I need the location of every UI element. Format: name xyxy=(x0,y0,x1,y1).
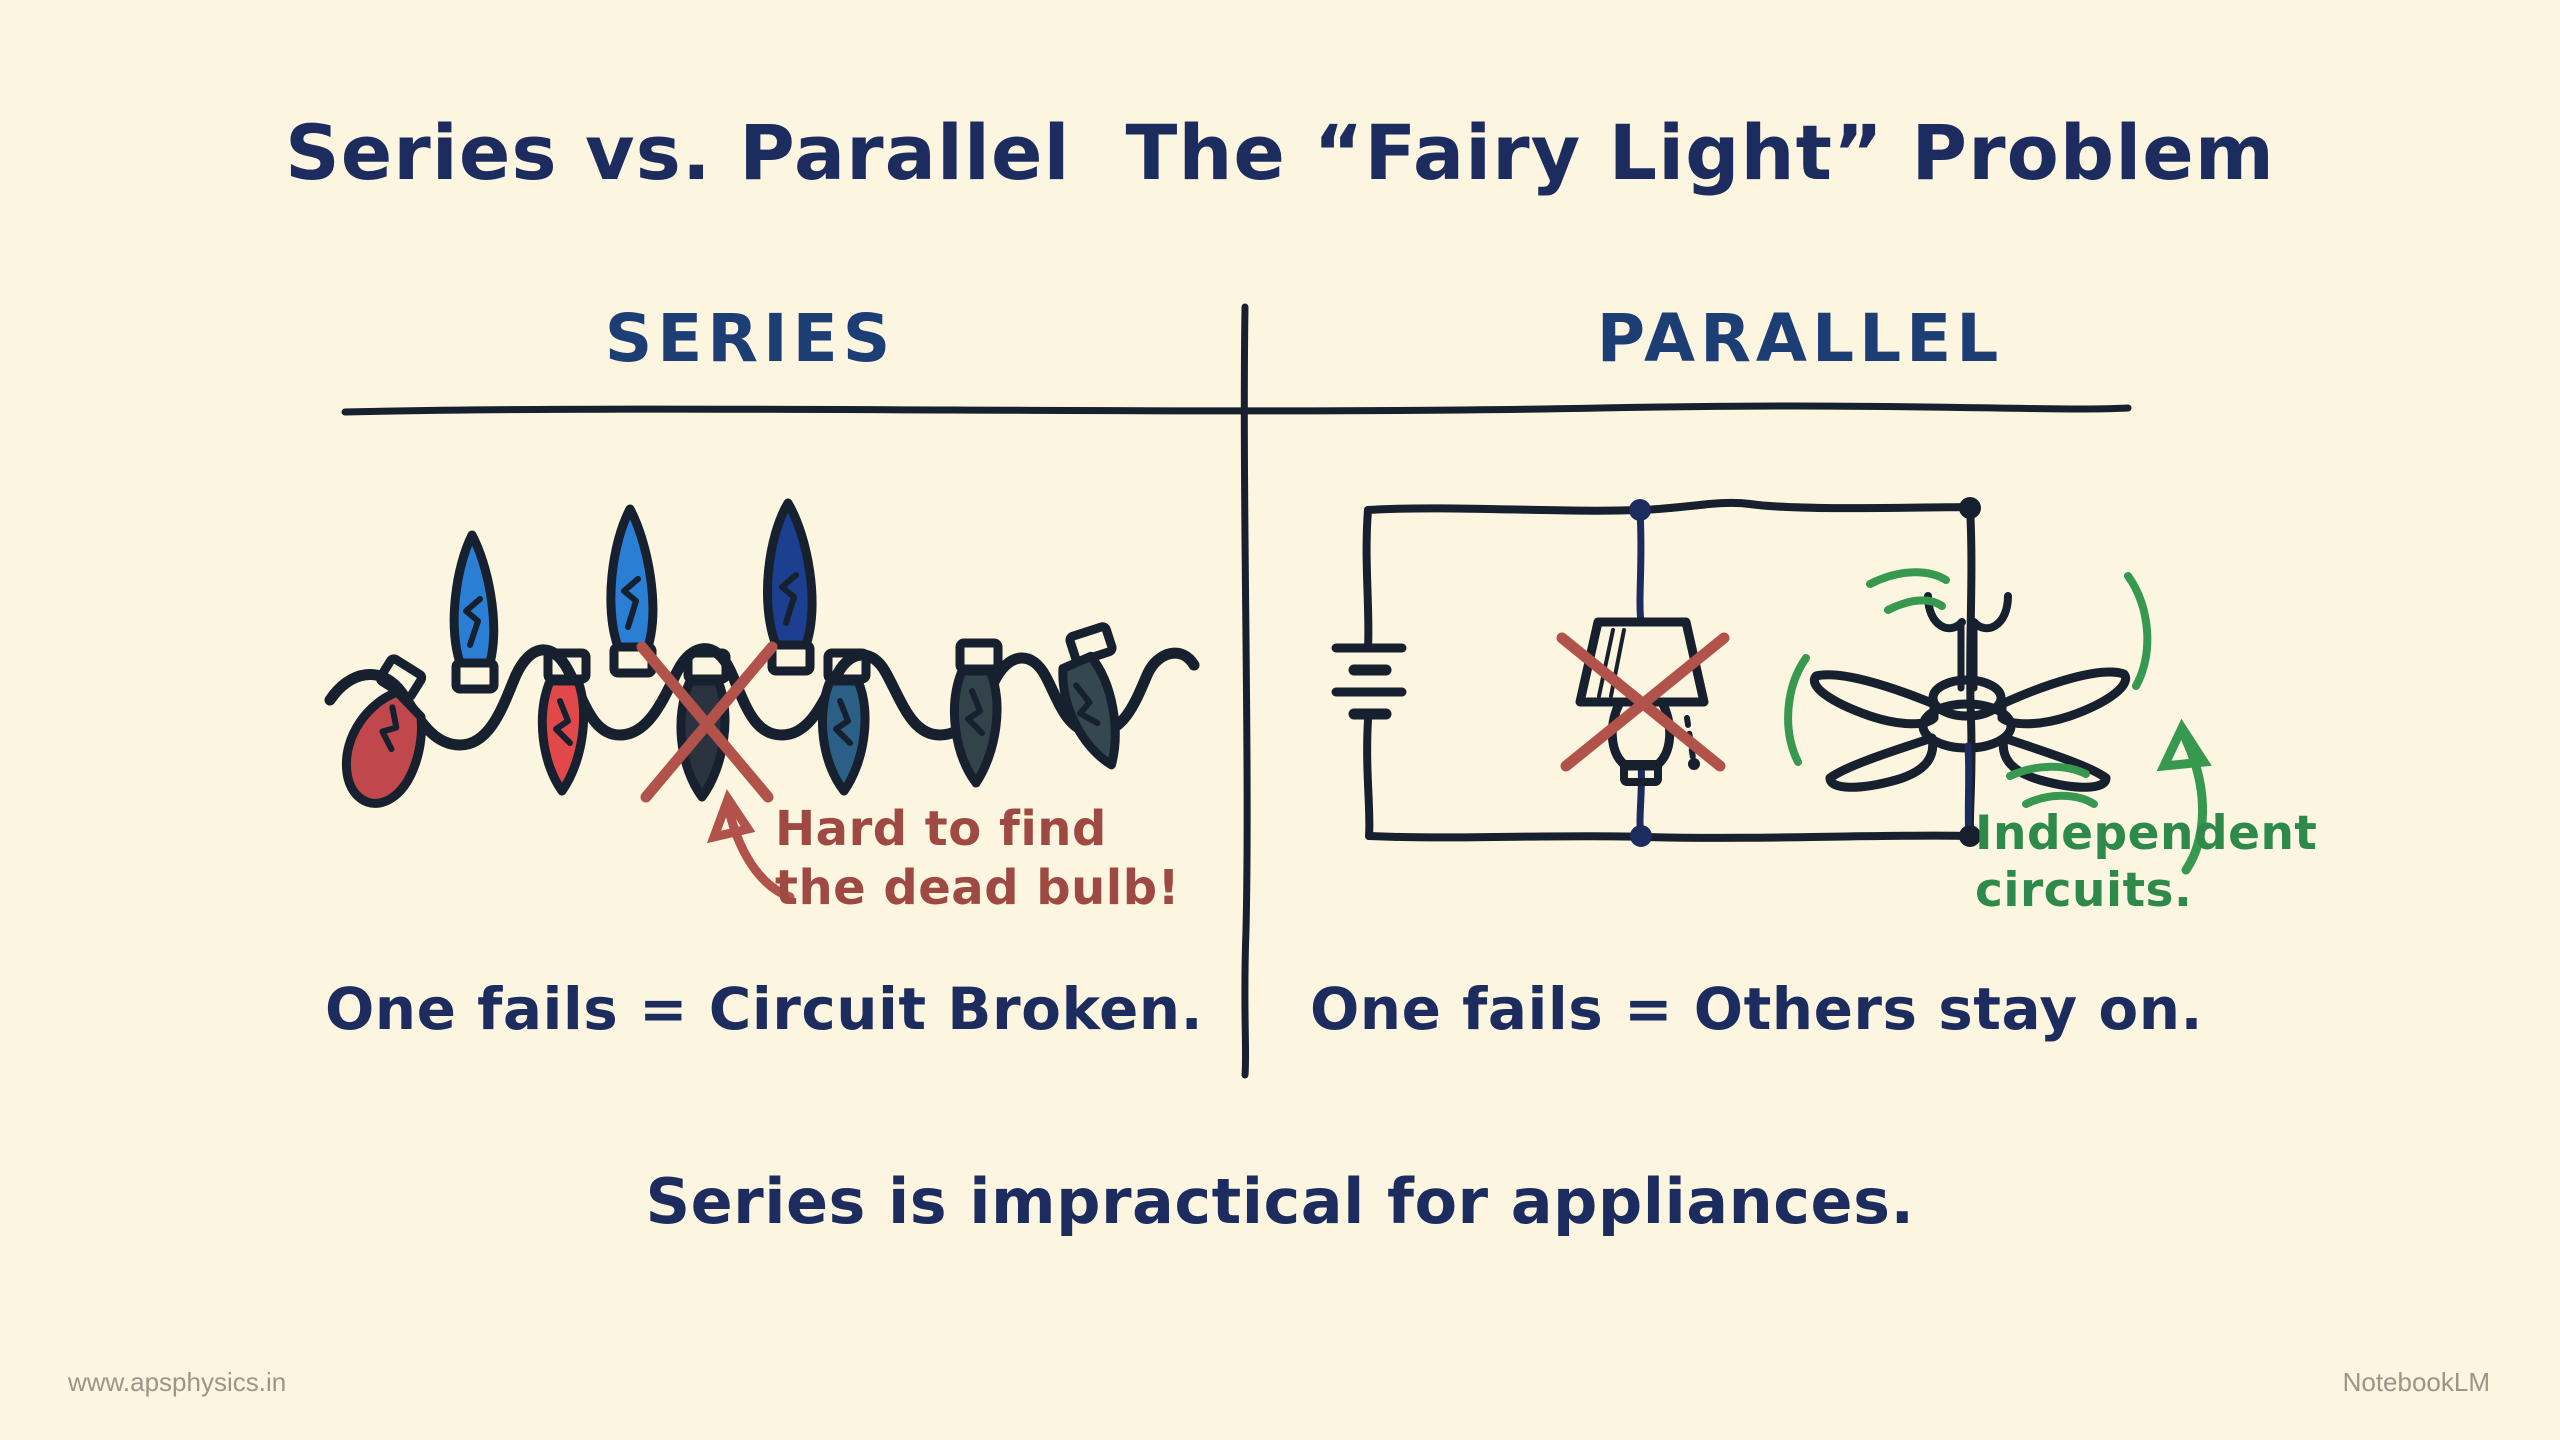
table-lamp-dead xyxy=(1562,622,1724,782)
fairy-light-string xyxy=(320,495,1220,825)
footer-brand: NotebookLM xyxy=(2343,1367,2490,1398)
circuit-node-bottom-left-branch xyxy=(1630,825,1652,847)
conclusion-parallel: One fails = Others stay on. xyxy=(1310,975,2203,1043)
series-annotation-text: Hard to find the dead bulb! xyxy=(775,800,1180,917)
circuit-node-top-left-branch xyxy=(1629,499,1651,521)
parallel-annotation-text: Independent circuits. xyxy=(1975,805,2317,920)
bulb-2 xyxy=(454,535,494,689)
battery-symbol xyxy=(1336,648,1402,714)
footer-website: www.apsphysics.in xyxy=(68,1367,286,1398)
summary-line: Series is impractical for appliances. xyxy=(0,1165,2560,1238)
circuit-node-top-right xyxy=(1959,497,1981,519)
bulb-7 xyxy=(822,653,866,791)
whiteboard-canvas: Series vs. Parallel The “Fairy Light” Pr… xyxy=(0,0,2560,1440)
bulb-8 xyxy=(954,643,998,783)
conclusion-series: One fails = Circuit Broken. xyxy=(325,975,1203,1043)
bulb-9 xyxy=(1057,626,1129,772)
